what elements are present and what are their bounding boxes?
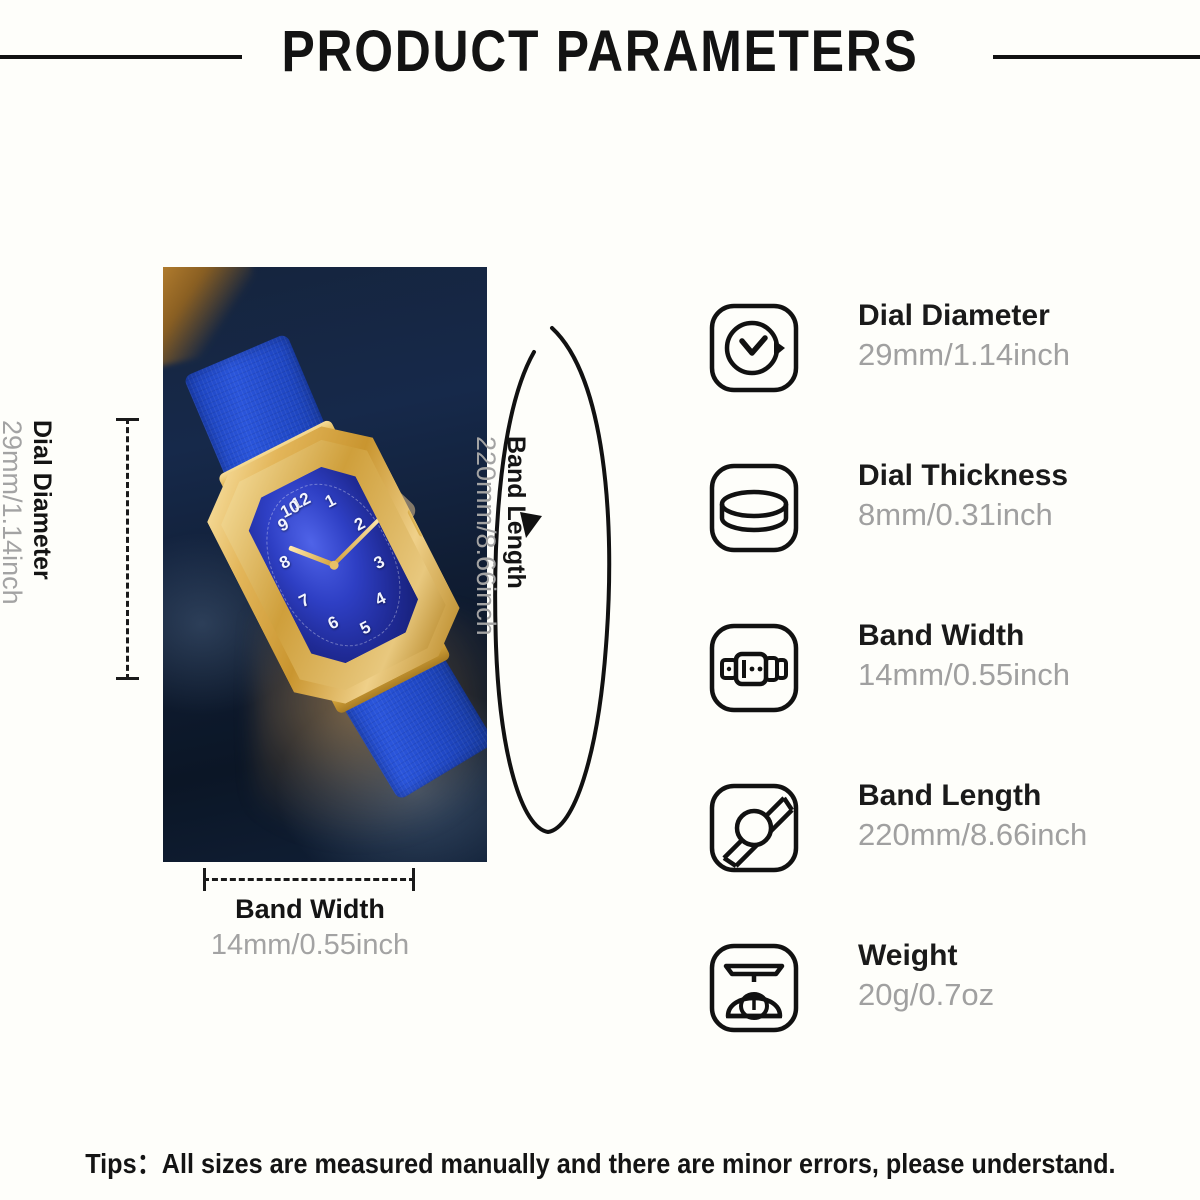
callout-label: Band Width [140,893,480,927]
band-length-loop: Band Length 220mm/8.66inch [486,316,626,844]
spec-row-dial-diameter: Dial Diameter 29mm/1.14inch [706,296,1176,456]
dimension-dashed-line [126,418,129,680]
band-width-callout: Band Width 14mm/0.55inch [140,893,480,963]
spec-text: Dial Thickness 8mm/0.31inch [858,456,1068,535]
spec-label: Dial Thickness [858,456,1068,495]
spec-label: Band Length [858,776,1087,815]
watch-dial-icon [706,300,802,396]
buckle-icon [706,620,802,716]
dimension-cap-bottom [116,677,139,680]
spec-label: Dial Diameter [858,296,1070,335]
spec-list: Dial Diameter 29mm/1.14inch Dial Thickne… [706,296,1176,1096]
spec-label: Weight [858,936,994,975]
band-length-callout: Band Length 220mm/8.66inch [470,436,530,836]
spec-text: Dial Diameter 29mm/1.14inch [858,296,1070,375]
dimension-cap-left [203,868,206,891]
product-parameters-page: PRODUCT PARAMETERS 12 1 [0,0,1200,1200]
spec-value: 14mm/0.55inch [858,655,1070,695]
dimension-cap-top [116,418,139,421]
callout-label: Band Length [501,436,530,836]
spec-row-weight: Weight 20g/0.7oz [706,936,1176,1096]
dial-diameter-callout: Dial Diameter 29mm/1.14inch [0,420,56,680]
callout-value: 220mm/8.66inch [470,436,501,836]
watch-strap-icon [706,780,802,876]
spec-row-dial-thickness: Dial Thickness 8mm/0.31inch [706,456,1176,616]
footer: Tips：All sizes are measured manually and… [0,1142,1200,1182]
spec-value: 8mm/0.31inch [858,495,1068,535]
callout-label: Dial Diameter [27,420,56,680]
footer-tips-text: Tips：All sizes are measured manually and… [85,1142,1115,1182]
spec-row-band-width: Band Width 14mm/0.55inch [706,616,1176,776]
page-title: PRODUCT PARAMETERS [84,18,1116,85]
spec-row-band-length: Band Length 220mm/8.66inch [706,776,1176,936]
spec-label: Band Width [858,616,1070,655]
spec-text: Band Length 220mm/8.66inch [858,776,1087,855]
spec-value: 20g/0.7oz [858,975,994,1015]
page-header: PRODUCT PARAMETERS [0,0,1200,110]
spec-value: 220mm/8.66inch [858,815,1087,855]
product-photo: 12 1 2 3 4 5 6 7 8 9 10 [163,267,487,862]
spec-text: Band Width 14mm/0.55inch [858,616,1070,695]
band-width-dimension-line [203,878,415,880]
disc-thickness-icon [706,460,802,556]
callout-value: 29mm/1.14inch [0,420,27,680]
callout-value: 14mm/0.55inch [140,927,480,963]
dimension-cap-right [412,868,415,891]
spec-text: Weight 20g/0.7oz [858,936,994,1015]
scale-icon [706,940,802,1036]
dial-diameter-dimension-line [126,418,128,680]
dimension-dashed-line [203,878,415,881]
watch-dial: 12 1 2 3 4 5 6 7 8 9 10 [238,454,429,674]
spec-value: 29mm/1.14inch [858,335,1070,375]
